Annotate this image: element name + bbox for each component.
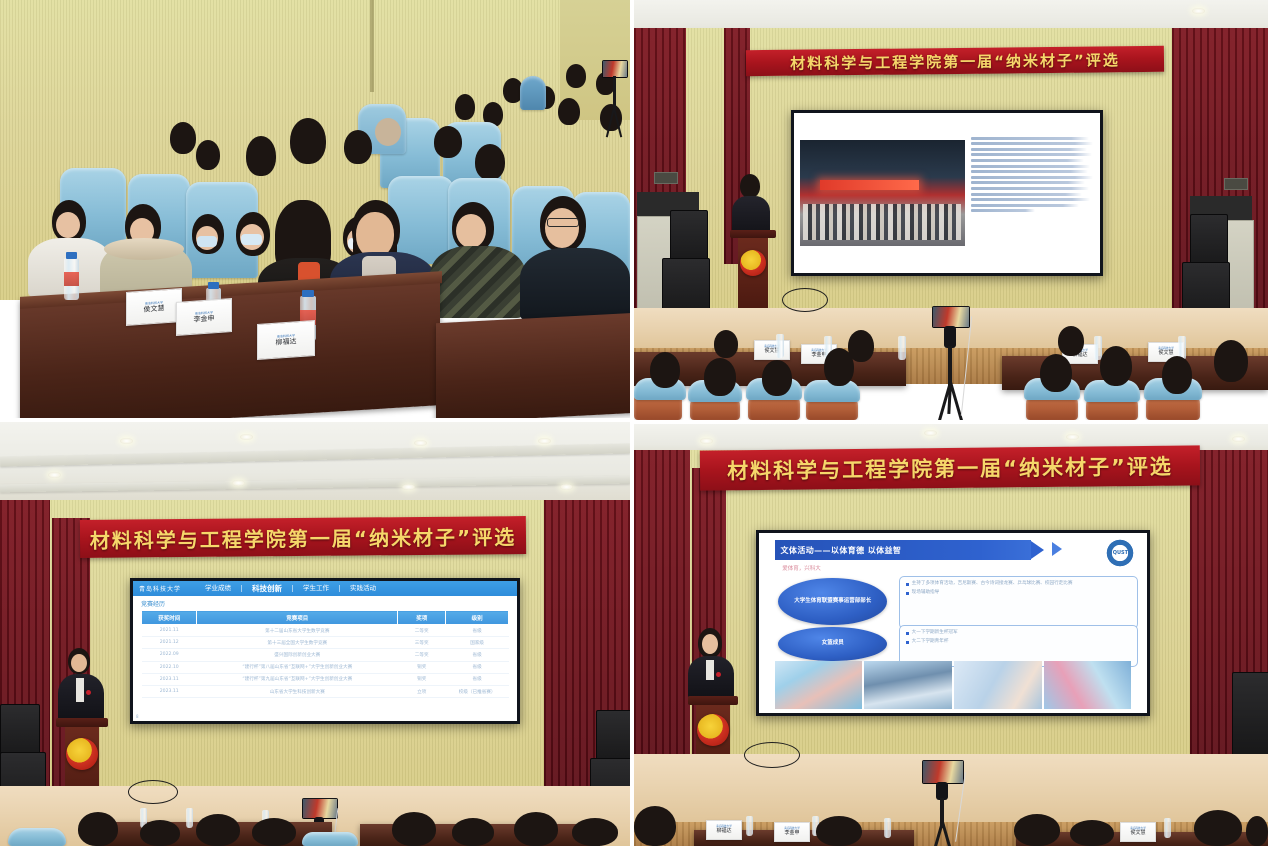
bullet-item: 主持了多项体育活动，吉尼斯赛、古今诗词接龙赛、乒乓球比赛、校园行走比赛 (906, 581, 1131, 588)
audience-head (714, 330, 738, 358)
recording-phone (302, 798, 338, 819)
judge-placard: 青岛科技大学 侯文慧 (1120, 822, 1156, 842)
cell-event: 第十二届山东省大学生数学竞赛 (197, 625, 398, 637)
slide-photo (864, 661, 952, 710)
judge-placard: 青岛科技大学 李金申 (774, 822, 810, 842)
arrow-icon (1031, 541, 1044, 559)
slide-tab-innovation[interactable]: 科技创新 (242, 585, 293, 593)
placard-name: 李金申 (194, 315, 215, 323)
audience-head (514, 812, 558, 846)
audience-head (1214, 340, 1248, 382)
cell-date: 2022.09 (142, 649, 197, 661)
ceiling-light (1232, 436, 1245, 442)
slide-subtitle: 爱体育，兴科大 (782, 564, 821, 572)
placard-name: 侯文慧 (1130, 831, 1145, 836)
ceiling-light (402, 484, 415, 490)
event-banner: 材料科学与工程学院第一届“纳米材子”评选 (700, 445, 1200, 490)
cell-level: 省级 (446, 625, 509, 637)
floor-cable (128, 780, 178, 804)
cell-level: 省级 (446, 649, 509, 661)
slide-nav-bar: 青岛科技大学 学业成绩 科技创新 学生工作 实践活动 (133, 581, 517, 596)
bullet-text: 大一下学期新生杯冠军 (912, 630, 958, 637)
podium-emblem (697, 714, 729, 746)
audience-head (196, 814, 240, 846)
audience-face (56, 212, 80, 238)
audience-head (344, 130, 372, 164)
ceiling-light (538, 438, 551, 444)
cell-award: 二等奖 (398, 625, 446, 637)
audience-head (1100, 346, 1132, 386)
placard-name: 柳福达 (276, 338, 297, 346)
bottle-cap (208, 282, 219, 289)
presenter-shirt (706, 660, 714, 680)
bullet-item: 大一下学期新生杯冠军 (906, 630, 1131, 637)
panel-top-left-audience: 青岛科技大学 侯文慧 青岛科技大学 李金申 青岛科技大学 柳福达 (0, 0, 630, 418)
audience-head (558, 98, 580, 125)
audience-head (848, 330, 874, 362)
audience-head (78, 812, 118, 846)
audience-head (434, 126, 462, 158)
bullet-item: 大二下学期青年杯 (906, 639, 1131, 646)
ceiling-light (48, 472, 61, 478)
slide-photo (1044, 661, 1132, 710)
ceiling-light (232, 480, 245, 486)
ceiling-light (700, 438, 713, 444)
panel-top-right-stage: 材料科学与工程学院第一届“纳米材子”评选 (634, 0, 1268, 420)
floor-cable (782, 288, 828, 312)
cell-level: 国家级 (446, 637, 509, 649)
audience-head (252, 818, 296, 846)
event-banner-text: 材料科学与工程学院第一届“纳米材子”评选 (727, 451, 1173, 486)
audience-head (816, 816, 862, 846)
slide-group-photo (800, 140, 965, 247)
audience-body (430, 246, 526, 318)
water-bottle (898, 336, 906, 360)
slide-body-text (971, 119, 1094, 267)
audience-head (1246, 816, 1268, 846)
audience-head (1194, 810, 1242, 846)
audience-head (452, 818, 494, 846)
audience-head (650, 352, 680, 388)
audience-head (566, 64, 586, 88)
role-oval-sports-league: 大学生体育联盟赛事运营部部长 (778, 578, 887, 625)
cell-level: 校级（已推省赛） (446, 685, 509, 697)
audience-head (246, 136, 276, 176)
placard-name: 柳福达 (716, 829, 731, 834)
projection-screen (791, 110, 1103, 276)
cell-date: 2021.11 (142, 625, 197, 637)
table-header-row: 获奖时间 竞赛项目 奖项 级别 (142, 611, 509, 625)
water-bottle (1164, 818, 1171, 838)
event-banner-text: 材料科学与工程学院第一届“纳米材子”评选 (90, 521, 517, 554)
slide-photo (954, 661, 1042, 710)
slide-competition: 青岛科技大学 学业成绩 科技创新 学生工作 实践活动 竞赛经历 获奖时间 竞赛项… (133, 581, 517, 721)
ceiling-light (414, 440, 427, 446)
projection-screen: 文体活动——以体育德 以体益智 QUST 爱体育，兴科大 大学生体育联盟赛事运营… (756, 530, 1150, 716)
bullet-text: 主持了多项体育活动，吉尼斯赛、古今诗词接龙赛、乒乓球比赛、校园行走比赛 (912, 581, 1073, 588)
col-event: 竞赛项目 (197, 611, 398, 625)
recording-phone (932, 306, 970, 328)
exit-sign (1224, 178, 1248, 190)
table-row: 2021.11 第十二届山东省大学生数学竞赛 二等奖 省级 (142, 625, 509, 637)
cell-award: 铜奖 (398, 673, 446, 685)
cell-event: 山东省大学生科技创新大赛 (197, 685, 398, 697)
col-award: 奖项 (398, 611, 446, 625)
judge-placard: 青岛科技大学 李金申 (176, 298, 232, 336)
slide-title: 文体活动——以体育德 以体益智 (775, 545, 902, 556)
cell-award: 二等奖 (398, 649, 446, 661)
water-bottle (186, 808, 193, 828)
event-banner: 材料科学与工程学院第一届“纳米材子”评选 (80, 516, 526, 558)
table-row: 2022.09 盛兴国际创新创业大赛 二等奖 省级 (142, 649, 509, 661)
ceiling-light (240, 434, 253, 440)
table-row: 2022.10 “建行杯”第八届山东省“互联网+”大学生创新创业大赛 铜奖 省级 (142, 661, 509, 673)
cell-event: “建行杯”第九届山东省“互联网+”大学生创新创业大赛 (197, 673, 398, 685)
bullet-square-icon (906, 641, 909, 644)
slide-tab-academic[interactable]: 学业成绩 (195, 585, 242, 592)
seat (302, 832, 358, 846)
ceiling-light (1192, 8, 1205, 14)
judges-table-right (436, 313, 630, 418)
cell-level: 省级 (446, 661, 509, 673)
water-bottle (884, 818, 891, 838)
bottle-cap (66, 252, 77, 259)
table-row: 2023.11 山东省大学生科技创新大赛 立项 校级（已推省赛） (142, 685, 509, 697)
wall-seam (370, 0, 374, 92)
audience-head (1040, 354, 1072, 392)
presenter-body (732, 196, 770, 234)
university-seal-logo: QUST (1105, 538, 1135, 568)
table-row: 2021.12 第十三届全国大学生数学竞赛 三等奖 国家级 (142, 637, 509, 649)
slide-tab-student-work[interactable]: 学生工作 (293, 585, 340, 592)
ceiling-light (120, 438, 133, 444)
face-mask (241, 234, 262, 245)
slide-sports: 文体活动——以体育德 以体益智 QUST 爱体育，兴科大 大学生体育联盟赛事运营… (759, 533, 1147, 713)
podium (730, 192, 776, 320)
face-mask (197, 236, 217, 247)
audience-head (170, 122, 196, 154)
audience-head (196, 140, 220, 170)
bullet-text: 现场辅助指导 (912, 590, 940, 597)
cell-date: 2023.11 (142, 673, 197, 685)
seat (8, 828, 66, 846)
bullet-square-icon (906, 583, 909, 586)
bullet-item: 现场辅助指导 (906, 590, 1131, 597)
audience-face (545, 208, 579, 248)
placard-name: 李金申 (784, 831, 799, 836)
audience-head (1058, 326, 1084, 356)
slide-photo (775, 661, 863, 710)
event-banner-text: 材料科学与工程学院第一届“纳米材子”评选 (790, 49, 1120, 73)
audience-face (456, 214, 486, 248)
ceiling-light (560, 484, 573, 490)
bullet-square-icon (906, 592, 909, 595)
seat (520, 76, 546, 110)
slide-tab-practice[interactable]: 实践活动 (340, 585, 386, 592)
glasses (547, 218, 579, 227)
stage-curtain-left (634, 450, 690, 760)
cell-event: “建行杯”第八届山东省“互联网+”大学生创新创业大赛 (197, 661, 398, 673)
audience-head (1014, 814, 1060, 846)
cell-date: 2022.10 (142, 661, 197, 673)
camera-tripod (918, 300, 988, 420)
presenter-shirt (76, 678, 84, 702)
cell-award: 立项 (398, 685, 446, 697)
camera-tripod (910, 760, 980, 846)
cell-award: 铜奖 (398, 661, 446, 673)
bullet-box-sports-league: 主持了多项体育活动，吉尼斯赛、古今诗词接龙赛、乒乓球比赛、校园行走比赛 现场辅助… (899, 576, 1138, 629)
cell-award: 三等奖 (398, 637, 446, 649)
panel-bottom-right-sports: 材料科学与工程学院第一届“纳米材子”评选 文体活动——以体育德 以体益智 QUS… (634, 424, 1268, 846)
projection-screen: 青岛科技大学 学业成绩 科技创新 学生工作 实践活动 竞赛经历 获奖时间 竞赛项… (130, 578, 520, 724)
lapel-pin (86, 690, 91, 695)
col-level: 级别 (446, 611, 509, 625)
slide-outreach (794, 113, 1100, 273)
audience-head (704, 358, 736, 396)
audience-head (475, 144, 505, 180)
ceiling-light (1066, 434, 1079, 440)
recording-phone (922, 760, 964, 784)
competition-table: 获奖时间 竞赛项目 奖项 级别 2021.11 第十二届山东省大学生数学竞赛 二… (141, 610, 509, 698)
stage-speaker-right (1232, 672, 1268, 762)
photo-collage: 青岛科技大学 侯文慧 青岛科技大学 李金申 青岛科技大学 柳福达 材料科学与工程… (0, 0, 1268, 846)
lapel-pin (716, 672, 721, 677)
audience-head (392, 812, 436, 846)
role-oval-basketball: 女篮成员 (778, 627, 887, 662)
audience-head (140, 820, 180, 846)
audience-head (572, 818, 618, 846)
podium-emblem (740, 250, 766, 276)
cell-date: 2021.12 (142, 637, 197, 649)
slide-section-title: 竞赛经历 (133, 596, 517, 610)
col-date: 获奖时间 (142, 611, 197, 625)
audience-head (1162, 356, 1192, 394)
camera-tripod (596, 60, 630, 140)
audience-body (520, 248, 630, 322)
podium-emblem (66, 738, 98, 770)
water-bottle (746, 816, 753, 836)
panel-bottom-left-competition: 材料科学与工程学院第一届“纳米材子”评选 青岛科技大学 学业成绩 科技创新 学生… (0, 422, 630, 846)
judge-placard: 青岛科技大学 侯文慧 (754, 340, 790, 360)
table-row: 2023.11 “建行杯”第九届山东省“互联网+”大学生创新创业大赛 铜奖 省级 (142, 673, 509, 685)
ceiling-light (924, 430, 937, 436)
bottle-label (64, 272, 79, 286)
event-banner: 材料科学与工程学院第一届“纳米材子”评选 (746, 46, 1164, 76)
university-logo: 青岛科技大学 (139, 584, 181, 593)
arrow-icon-secondary (1052, 542, 1062, 556)
floor-cable (744, 742, 800, 768)
photo-building-sign (820, 180, 919, 190)
slide-photo-strip (775, 661, 1132, 710)
cell-date: 2023.11 (142, 685, 197, 697)
audience-head (634, 806, 676, 846)
fur-collar (104, 238, 184, 260)
cell-event: 盛兴国际创新创业大赛 (197, 649, 398, 661)
presenter-head (740, 174, 760, 198)
slide-title-bar: 文体活动——以体育德 以体益智 (775, 540, 1031, 560)
judge-placard: 青岛科技大学 柳福达 (706, 820, 742, 840)
judge-placard: 青岛科技大学 侯文慧 (126, 288, 182, 326)
presenter-face (71, 654, 87, 672)
presenter-face (702, 634, 718, 654)
audience-head (1070, 820, 1114, 846)
placard-name: 侯文慧 (1158, 351, 1173, 356)
audience-head (375, 118, 401, 146)
cell-event: 第十三届全国大学生数学竞赛 (197, 637, 398, 649)
exit-sign (654, 172, 678, 184)
bullet-square-icon (906, 632, 909, 635)
audience-head (762, 360, 792, 396)
bullet-text: 大二下学期青年杯 (912, 639, 949, 646)
placard-name: 侯文慧 (144, 305, 165, 313)
bottle-cap (302, 290, 314, 297)
charging-cable (961, 316, 972, 416)
slide-page-number: 8 (136, 714, 139, 719)
cell-level: 省级 (446, 673, 509, 685)
water-bottle (776, 334, 784, 358)
audience-head (290, 118, 326, 164)
audience-head (455, 94, 475, 120)
judge-placard: 青岛科技大学 柳福达 (257, 320, 315, 360)
photo-people-row (803, 204, 961, 240)
